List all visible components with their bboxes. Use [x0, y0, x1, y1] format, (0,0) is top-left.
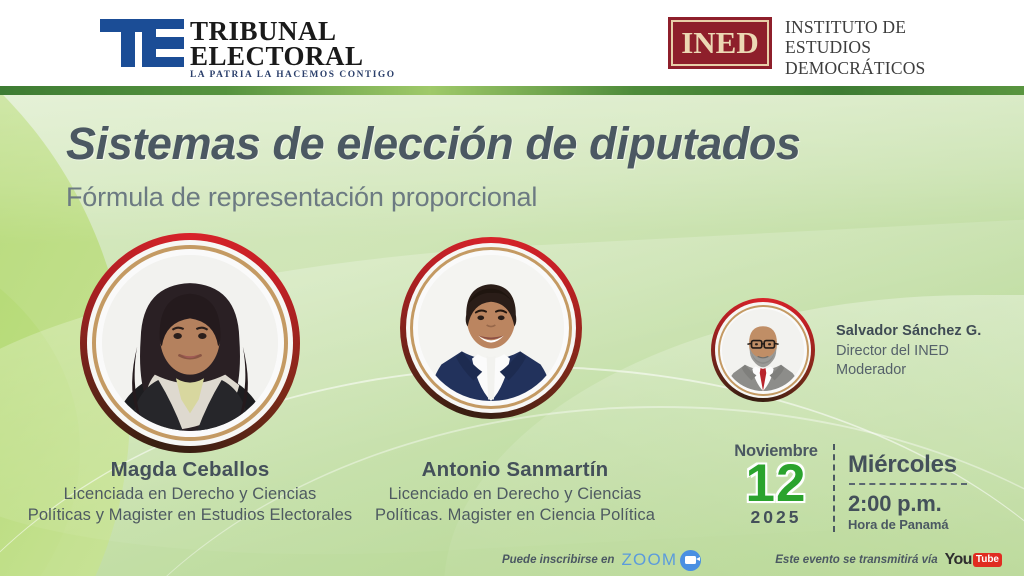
ined-line-1: INSTITUTO DE	[785, 17, 925, 37]
speaker-name: Antonio Sanmartín	[345, 458, 685, 482]
zoom-brand-label: ZOOM	[621, 550, 677, 570]
event-year: 2025	[728, 509, 824, 527]
speaker-credential-line-2: Políticas. Magister en Ciencia Política	[345, 505, 685, 526]
event-poster: TRIBUNAL ELECTORAL LA PATRIA LA HACEMOS …	[0, 0, 1024, 576]
event-time-block: Miércoles 2:00 p.m. Hora de Panamá	[848, 443, 967, 532]
speaker-portrait-magda	[80, 233, 300, 453]
poster-header: TRIBUNAL ELECTORAL LA PATRIA LA HACEMOS …	[0, 0, 1024, 86]
event-day: 12	[728, 459, 824, 509]
te-tagline: LA PATRIA LA HACEMOS CONTIGO	[190, 70, 396, 80]
portrait-photo-salvador	[722, 309, 804, 391]
ined-line-2: ESTUDIOS	[785, 37, 925, 57]
te-line-2: ELECTORAL	[190, 44, 396, 69]
te-monogram-icon	[100, 19, 184, 67]
zoom-registration-label: Puede inscribirse en	[502, 554, 615, 566]
speaker-name: Magda Ceballos	[10, 458, 370, 482]
speaker-credential-line-1: Licenciado en Derecho y Ciencias	[345, 484, 685, 505]
ined-mark-text: INED	[671, 20, 769, 66]
portrait-photo-magda	[102, 255, 278, 431]
poster-footer: Puede inscribirse en ZOOM Este evento se…	[0, 544, 1024, 576]
ined-logo: INED INSTITUTO DE ESTUDIOS DEMOCRÁTICOS	[668, 17, 925, 78]
youtube-stream-label: Este evento se transmitirá vía	[775, 554, 937, 566]
tribunal-electoral-logo: TRIBUNAL ELECTORAL LA PATRIA LA HACEMOS …	[100, 19, 396, 80]
youtube-stream-group[interactable]: Este evento se transmitirá vía You Tube	[775, 552, 1002, 568]
date-dashed-separator	[849, 483, 967, 485]
ined-line-3: DEMOCRÁTICOS	[785, 58, 925, 78]
moderator-role: Director del INED	[836, 342, 981, 362]
portrait-photo-antonio	[418, 255, 564, 401]
header-divider-bar	[0, 86, 1024, 95]
te-logo-text: TRIBUNAL ELECTORAL LA PATRIA LA HACEMOS …	[190, 19, 396, 80]
speaker-credential-line-1: Licenciada en Derecho y Ciencias	[10, 484, 370, 505]
moderator-name: Salvador Sánchez G.	[836, 322, 981, 342]
date-vertical-divider	[833, 444, 835, 532]
ined-mark-box: INED	[668, 17, 772, 69]
moderator-portrait-salvador	[711, 298, 815, 402]
event-date-left: Noviembre 12 2025	[728, 443, 824, 527]
speaker-caption-magda: Magda Ceballos Licenciada en Derecho y C…	[10, 458, 370, 526]
event-weekday: Miércoles	[848, 452, 967, 477]
speaker-caption-antonio: Antonio Sanmartín Licenciado en Derecho …	[345, 458, 685, 526]
page-title: Sistemas de elección de diputados	[66, 118, 801, 170]
speaker-portrait-antonio	[400, 237, 582, 419]
youtube-you-text: You	[945, 552, 972, 568]
event-timezone: Hora de Panamá	[848, 517, 967, 532]
speaker-credential-line-2: Políticas y Magister en Estudios Elector…	[10, 505, 370, 526]
moderator-label: Moderador	[836, 361, 981, 381]
zoom-registration-group[interactable]: Puede inscribirse en ZOOM	[502, 550, 701, 571]
moderator-caption: Salvador Sánchez G. Director del INED Mo…	[836, 322, 981, 381]
event-date-block: Noviembre 12 2025 Miércoles 2:00 p.m. Ho…	[728, 443, 967, 532]
video-camera-icon	[680, 550, 701, 571]
event-time: 2:00 p.m.	[848, 492, 967, 515]
page-subtitle: Fórmula de representación proporcional	[66, 182, 537, 213]
youtube-tube-text: Tube	[973, 553, 1002, 567]
youtube-icon: You Tube	[945, 552, 1002, 568]
ined-logo-text: INSTITUTO DE ESTUDIOS DEMOCRÁTICOS	[785, 17, 925, 78]
